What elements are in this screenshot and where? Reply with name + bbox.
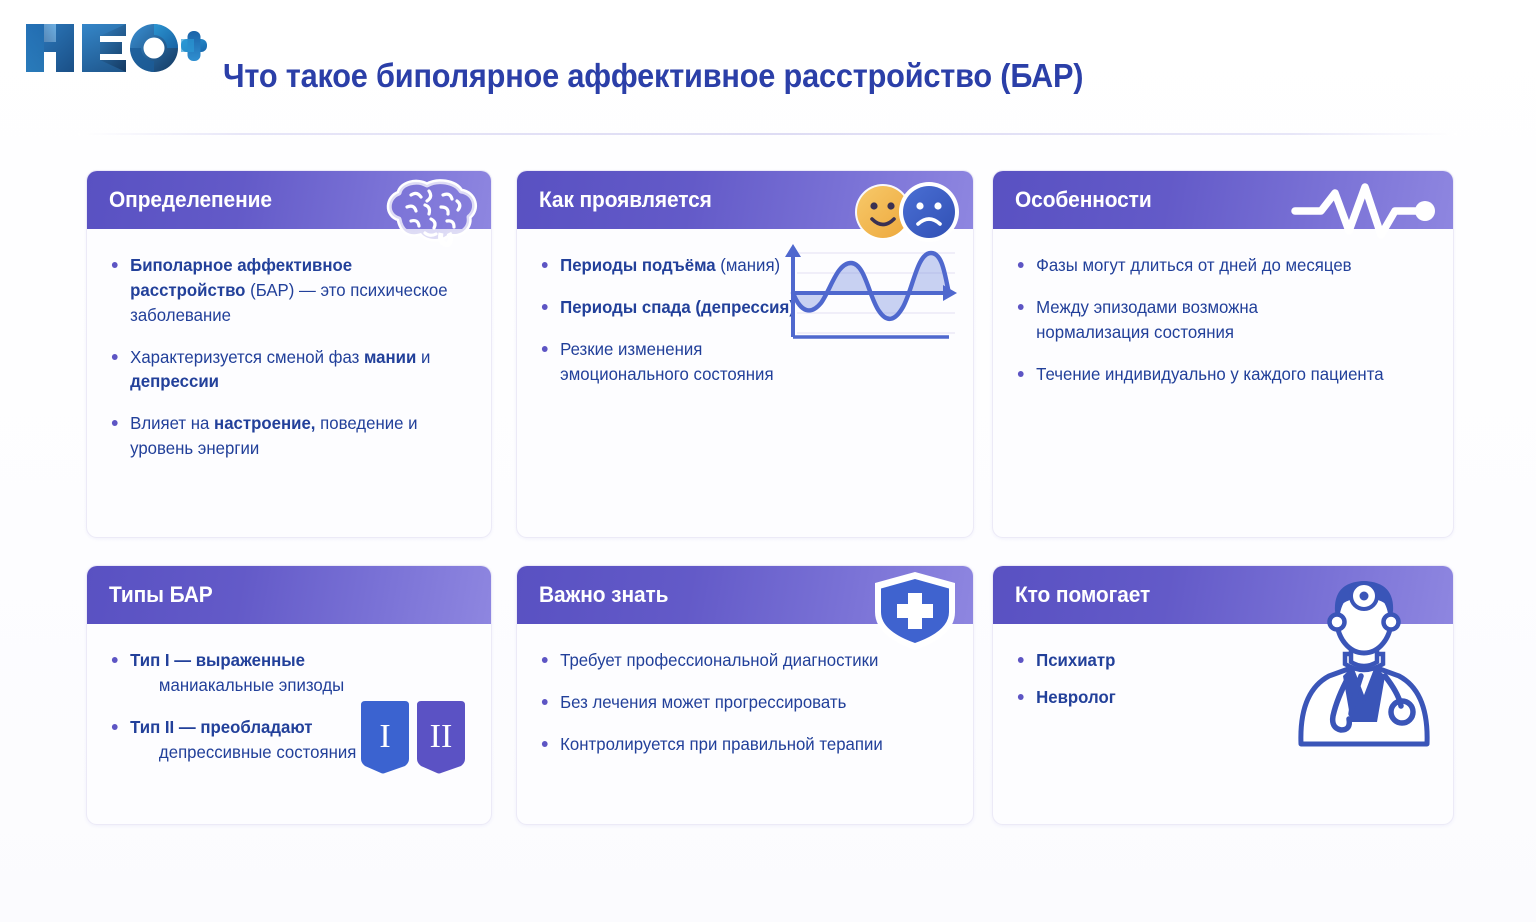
- card-symptoms-title: Как проявляется: [539, 187, 712, 213]
- card-important-header: Важно знать: [517, 566, 973, 624]
- page-header: Что такое биполярное аффективное расстро…: [0, 0, 1536, 135]
- list-item: Характеризуется сменой фаз мании и депре…: [109, 345, 455, 395]
- badge-label-1: I: [379, 718, 390, 755]
- item-text: Фазы могут длиться от дней до месяцев: [1036, 255, 1351, 275]
- card-features-title: Особенности: [1015, 187, 1152, 213]
- item-text: Влияет на: [130, 413, 214, 433]
- list-item: Психиатр: [1015, 648, 1414, 673]
- list-item: Фазы могут длиться от дней до месяцев: [1015, 253, 1414, 278]
- list-item: Резкие изменения эмоционального состояни…: [539, 337, 779, 387]
- emotional-state-wave-chart: [771, 241, 959, 345]
- neo-plus-logo: [18, 18, 208, 78]
- card-types-body: Тип I — выраженные маниакальные эпизоды …: [87, 624, 491, 795]
- item-text-bold: Периоды подъёма: [560, 255, 720, 275]
- card-definition-title: Определепение: [109, 187, 272, 213]
- page-title: Что такое биполярное аффективное расстро…: [223, 57, 1083, 95]
- card-symptoms-header: Как проявляется: [517, 171, 973, 229]
- card-features-header: Особенности: [993, 171, 1453, 229]
- item-text-bold: Тип I — выраженные: [130, 650, 305, 670]
- list-item: Между эпизодами возможна нормализация со…: [1015, 295, 1303, 345]
- card-definition: Определепение: [86, 170, 492, 538]
- infographic-page: Что такое биполярное аффективное расстро…: [0, 0, 1536, 922]
- card-important-title: Важно знать: [539, 582, 668, 608]
- card-important: Важно знать Требует профессиональной диа…: [516, 565, 974, 825]
- item-subtext: маниакальные эпизоды: [130, 673, 454, 698]
- card-types-header: Типы БАР: [87, 566, 491, 624]
- item-text-bold: Периоды спада (депрессия): [560, 297, 795, 317]
- item-text: Резкие изменения эмоционального состояни…: [560, 339, 773, 384]
- card-definition-body: Биполарное аффективное расстройство (БАР…: [87, 229, 491, 492]
- item-text: Контролируется при правильной терапии: [560, 734, 883, 754]
- card-symptoms-body: Периоды подъёма (мания) Периоды спада (д…: [517, 229, 973, 417]
- list-item: Контролируется при правильной терапии: [539, 732, 935, 757]
- item-text: Без лечения может прогрессировать: [560, 692, 846, 712]
- list-item: Течение индивидуально у каждого пациента: [1015, 362, 1414, 387]
- card-who-helps-header: Кто помогает: [993, 566, 1453, 624]
- item-text: Течение индивидуально у каждого пациента: [1036, 364, 1383, 384]
- definition-list: Биполарное аффективное расстройство (БАР…: [109, 253, 469, 461]
- card-features-body: Фазы могут длиться от дней до месяцев Ме…: [993, 229, 1453, 417]
- card-definition-header: Определепение: [87, 171, 491, 229]
- type-badges-icon: I II: [357, 699, 469, 775]
- features-list: Фазы могут длиться от дней до месяцев Ме…: [1015, 253, 1431, 386]
- item-text-bold: депрессии: [130, 371, 219, 391]
- list-item: Невролог: [1015, 685, 1414, 710]
- item-text-bold: настроение,: [214, 413, 315, 433]
- title-divider: [78, 133, 1457, 135]
- badge-label-2: II: [430, 718, 453, 755]
- list-item: Влияет на настроение, поведение и уровен…: [109, 411, 455, 461]
- card-types-title: Типы БАР: [109, 582, 213, 608]
- item-text-bold: Невролог: [1036, 687, 1116, 707]
- list-item: Без лечения может прогрессировать: [539, 690, 935, 715]
- list-item: Требует профессиональной диагностики: [539, 648, 935, 673]
- item-text-bold: Тип II — преобладают: [130, 717, 312, 737]
- list-item: Биполарное аффективное расстройство (БАР…: [109, 253, 455, 328]
- item-text: Между эпизодами возможна нормализация со…: [1036, 297, 1258, 342]
- item-text: Требует профессиональной диагностики: [560, 650, 878, 670]
- item-text-bold: Психиатр: [1036, 650, 1115, 670]
- important-list: Требует профессиональной диагностики Без…: [539, 648, 951, 757]
- card-who-helps-body: Психиатр Невролог: [993, 624, 1453, 741]
- item-text: Характеризуется сменой фаз: [130, 347, 364, 367]
- card-features: Особенности Фазы могут длиться от дней д…: [992, 170, 1454, 538]
- list-item: Тип I — выраженные маниакальные эпизоды: [109, 648, 455, 698]
- card-who-helps-title: Кто помогает: [1015, 582, 1150, 608]
- card-important-body: Требует профессиональной диагностики Без…: [517, 624, 973, 788]
- who-helps-list: Психиатр Невролог: [1015, 648, 1431, 710]
- card-types: Типы БАР Тип I — выраженные маниакальные…: [86, 565, 492, 825]
- item-text-bold: мании: [364, 347, 416, 367]
- card-symptoms: Как проявляется: [516, 170, 974, 538]
- item-text: и: [416, 347, 430, 367]
- card-who-helps: Кто помогает: [992, 565, 1454, 825]
